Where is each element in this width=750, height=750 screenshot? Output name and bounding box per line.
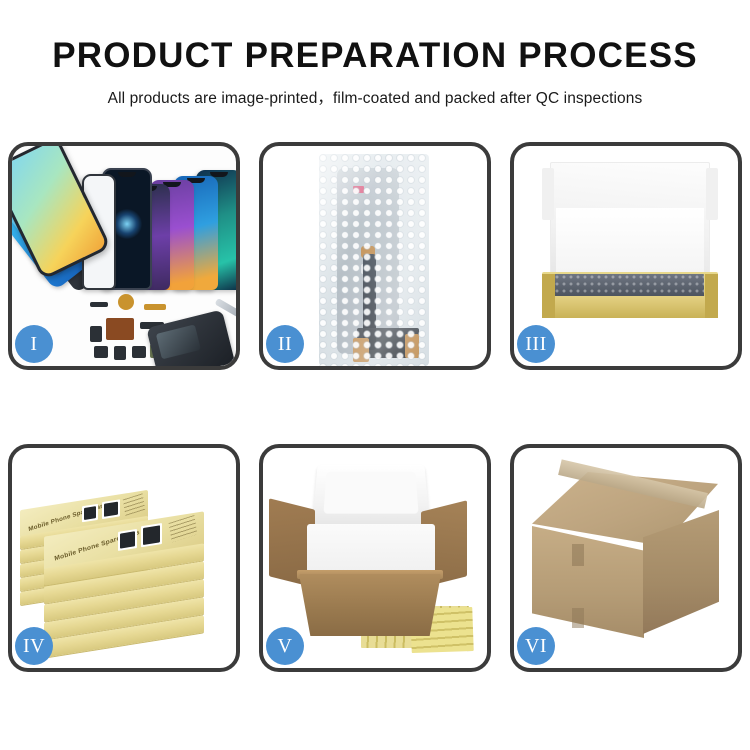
plastic-sheen	[319, 154, 429, 366]
step-panel-1[interactable]: I	[8, 142, 240, 370]
product-preparation-process-page: PRODUCT PREPARATION PROCESS All products…	[0, 0, 750, 750]
part-strip-icon	[90, 302, 108, 307]
step-badge-6: VI	[517, 627, 555, 665]
sim-tray-icon	[94, 346, 108, 358]
foam-sheet-icon	[556, 208, 704, 278]
box-thumb-icon	[82, 504, 98, 523]
flex-connector-icon	[144, 304, 166, 310]
step-badge-5: V	[266, 627, 304, 665]
carton-seam-upper	[572, 544, 584, 566]
screw-icon	[232, 358, 236, 364]
step-panel-5[interactable]: V	[259, 444, 491, 672]
bubble-wrap-bag	[319, 154, 429, 366]
phone-screen-fan	[82, 154, 236, 290]
lid-flap-left-icon	[542, 168, 554, 220]
box-thumb-icon	[141, 523, 162, 547]
button-part-icon	[132, 346, 146, 358]
page-subtitle: All products are image-printed，film-coat…	[0, 86, 750, 108]
spare-parts-group	[90, 288, 236, 366]
step-panel-6[interactable]: VI	[510, 444, 742, 672]
step-badge-1: I	[15, 325, 53, 363]
vibration-motor-icon	[114, 346, 126, 360]
step-panel-3[interactable]: III	[510, 142, 742, 370]
step-panel-4[interactable]: Mobile Phone Spare Parts Mobile Phone Sp…	[8, 444, 240, 672]
process-steps-grid: I II	[8, 142, 742, 672]
speaker-coil-icon	[118, 294, 134, 310]
step-badge-4: IV	[15, 627, 53, 665]
carton-seam-lower	[572, 608, 584, 628]
carton-body-icon	[299, 574, 441, 636]
camera-module-icon	[90, 326, 102, 342]
carton-front-face	[532, 526, 644, 638]
notch-icon	[118, 172, 136, 177]
foam-lid-icon	[312, 465, 430, 524]
box-thumb-icon	[118, 529, 137, 551]
box-thumb-icon	[102, 499, 120, 519]
box-stack: Mobile Phone Spare Parts Mobile Phone Sp…	[18, 466, 234, 660]
circuit-board-icon	[106, 318, 134, 340]
step-badge-2: II	[266, 325, 304, 363]
step-badge-3: III	[517, 325, 555, 363]
box-spec-lines	[123, 493, 145, 516]
tray-right-wall	[705, 274, 718, 318]
page-title: PRODUCT PREPARATION PROCESS	[0, 38, 750, 73]
tray-left-wall	[542, 274, 555, 318]
bubble-wrapped-contents-icon	[554, 274, 704, 298]
box-spec-lines	[169, 515, 198, 542]
header: PRODUCT PREPARATION PROCESS All products…	[0, 0, 750, 108]
tray-front-face	[542, 296, 718, 318]
phone-back-housing-icon	[146, 309, 236, 366]
step-panel-2[interactable]: II	[259, 142, 491, 370]
lid-flap-right-icon	[706, 168, 718, 220]
